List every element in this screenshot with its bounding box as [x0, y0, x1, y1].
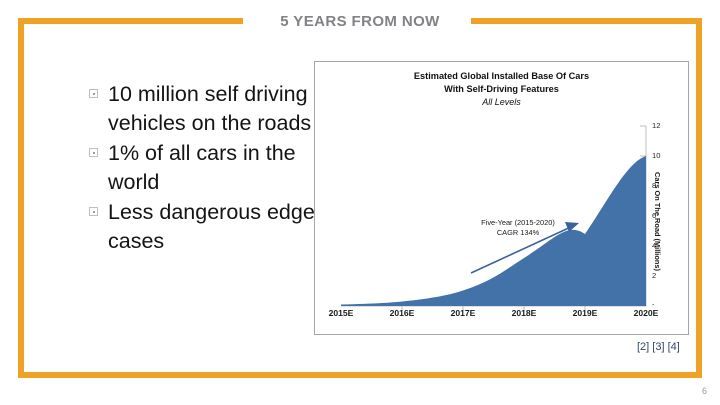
list-item: 10 million self driving vehicles on the …	[88, 80, 328, 138]
square-bullet-icon	[89, 207, 98, 216]
x-axis-tick-label: 2016E	[379, 308, 425, 318]
list-item-label: 1% of all cars in the world	[108, 141, 296, 194]
chart-title-line-2: With Self-Driving Features	[315, 83, 688, 96]
x-axis-tick-label: 2018E	[501, 308, 547, 318]
list-item: 1% of all cars in the world	[88, 139, 328, 197]
square-bullet-icon	[89, 89, 98, 98]
x-axis-tick-label: 2017E	[440, 308, 486, 318]
page-number: 6	[702, 386, 707, 396]
list-item-label: 10 million self driving vehicles on the …	[108, 82, 311, 135]
cagr-annotation-line-1: Five-Year (2015-2020)	[458, 218, 578, 228]
list-item-label: Less dangerous edge cases	[108, 200, 315, 253]
square-bullet-icon	[89, 148, 98, 157]
page-title: 5 YEARS FROM NOW	[0, 13, 720, 30]
citation-references: [2] [3] [4]	[637, 341, 680, 353]
x-axis-tick-label: 2015E	[318, 308, 364, 318]
chart-subtitle: All Levels	[315, 97, 688, 107]
cagr-annotation-line-2: CAGR 134%	[458, 228, 578, 238]
bullet-list: 10 million self driving vehicles on the …	[88, 80, 328, 257]
cagr-annotation: Five-Year (2015-2020) CAGR 134%	[458, 218, 578, 238]
y-axis-tick-label: 2	[652, 271, 670, 280]
list-item: Less dangerous edge cases	[88, 198, 328, 256]
chart-title: Estimated Global Installed Base Of Cars …	[315, 70, 688, 95]
y-axis-tick-label: 10	[652, 151, 670, 160]
x-axis-tick-label: 2019E	[562, 308, 608, 318]
chart-plot-area: 12 10 8 6 4 2 - 2015E 2016E 2017E 2018E …	[315, 110, 689, 335]
chart-figure: Estimated Global Installed Base Of Cars …	[314, 61, 689, 335]
x-axis-tick-label: 2020E	[623, 308, 669, 318]
y-axis-title: Cars On The Road (Millions)	[653, 172, 662, 271]
y-axis-tick-label: 12	[652, 121, 670, 130]
chart-title-line-1: Estimated Global Installed Base Of Cars	[315, 70, 688, 83]
